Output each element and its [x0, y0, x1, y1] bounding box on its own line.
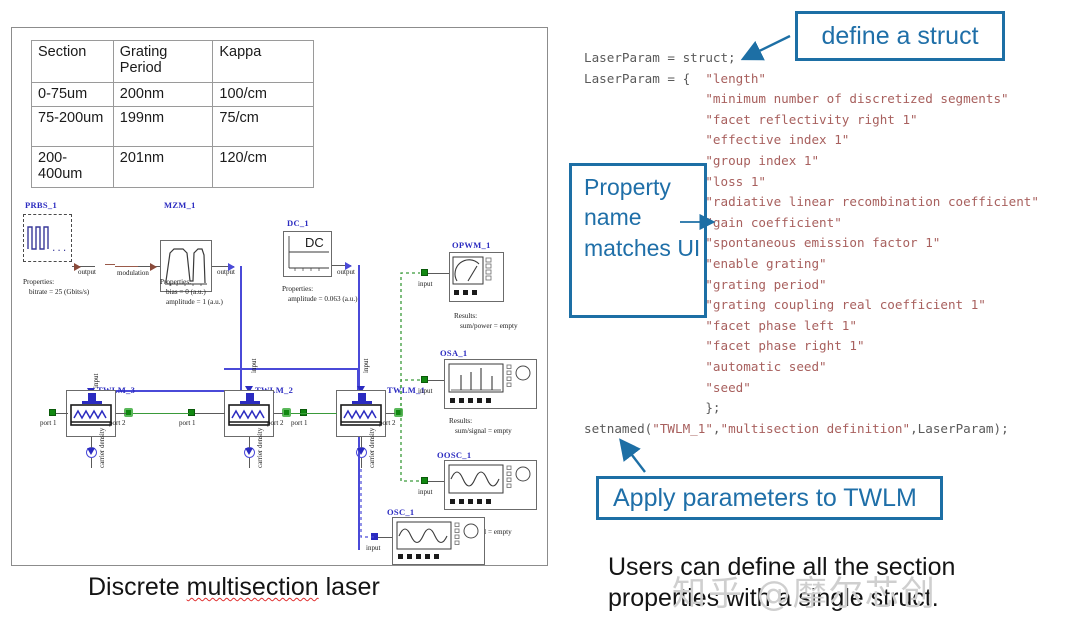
block-label-oosc-1: OOSC_1	[437, 450, 471, 460]
wire-port1-twlm3	[56, 413, 68, 414]
oscilloscope-svg	[393, 518, 484, 564]
port-label-modulation: modulation	[117, 269, 149, 277]
code-setnamed-comma: ,	[713, 421, 721, 436]
power-meter-svg	[450, 253, 503, 301]
port-dot-green[interactable]	[421, 376, 428, 383]
wire-dc-to-twlm2	[224, 368, 360, 370]
mzm-properties-amplitude: amplitude = 1 (a.u.)	[166, 297, 223, 307]
code-setnamed-arg1: "TWLM_1"	[652, 421, 713, 436]
block-label-prbs-1: PRBS_1	[25, 200, 57, 210]
code-closing-brace: };	[705, 400, 720, 415]
arrow-icon	[87, 448, 95, 455]
twlm-laser-svg	[225, 391, 273, 436]
twlm-laser-icon[interactable]	[66, 390, 116, 437]
wire-twlm2-to-twlm1	[291, 413, 337, 414]
arrow-icon	[228, 263, 235, 271]
port-label-port2: port 2	[267, 419, 284, 427]
port-label-input: input	[92, 374, 100, 388]
port-label-carrier-density: carrier density	[368, 428, 376, 468]
arrow-icon	[357, 448, 365, 455]
port-label-port2: port 2	[379, 419, 396, 427]
dc-source-icon[interactable]: DC	[283, 231, 332, 277]
osa-results-value: sum/signal = empty	[455, 426, 512, 436]
wire-carrier-twlm2-b	[249, 458, 250, 468]
code-setnamed-arg2: "multisection definition"	[721, 421, 911, 436]
twlm-laser-icon[interactable]	[224, 390, 274, 437]
code-line-struct: LaserParam = struct;	[584, 50, 736, 65]
wire-port2-twlm1	[386, 413, 395, 414]
dc-properties-title: Properties:	[282, 284, 313, 294]
svg-text:DC: DC	[305, 235, 324, 250]
port-dot-green[interactable]	[421, 477, 428, 484]
wire-modulation-b	[115, 266, 138, 267]
code-string-10: "grating period"	[705, 277, 826, 292]
block-label-osc-1: OSC_1	[387, 507, 414, 517]
port-label-input: input	[418, 280, 432, 288]
code-string-12: "facet phase left 1"	[705, 318, 857, 333]
arrow-apply-params-icon	[622, 442, 645, 472]
code-string-5: "loss 1"	[705, 174, 766, 189]
slide-root: Section Grating Period Kappa 0-75um 200n…	[0, 0, 1074, 630]
code-setnamed-pre: setnamed(	[584, 421, 652, 436]
code-string-11: "grating coupling real coefficient 1"	[705, 297, 986, 312]
port-dot-green[interactable]	[421, 269, 428, 276]
callout-define-struct-label: define a struct	[821, 22, 978, 51]
port-dot-blue[interactable]	[371, 533, 378, 540]
twlm-laser-svg	[337, 391, 385, 436]
mzm-properties-title: Properties:	[160, 277, 191, 287]
wire-carrier-twlm1-b	[361, 458, 362, 468]
port-label-input: input	[366, 544, 380, 552]
caption-left-spellcheck-word: multisection	[187, 573, 319, 601]
code-string-2: "facet reflectivity right 1"	[705, 112, 917, 127]
code-string-14: "automatic seed"	[705, 359, 826, 374]
port-label-port1: port 1	[291, 419, 308, 427]
opwm-results-title: Results:	[454, 311, 477, 321]
wire-carrier-twlm3-b	[91, 458, 92, 468]
caption-left-post: laser	[319, 573, 380, 601]
port-label-input: input	[362, 359, 370, 373]
port-label-input: input	[418, 488, 432, 496]
svg-text:...: ...	[51, 244, 67, 254]
wire-to-osc	[378, 537, 393, 538]
twlm-laser-icon[interactable]	[336, 390, 386, 437]
optical-oscilloscope-svg	[445, 461, 536, 509]
arrow-icon	[245, 448, 253, 455]
oscilloscope-icon[interactable]	[392, 517, 485, 565]
dc-source-svg: DC	[284, 232, 331, 276]
prbs-waveform-icon[interactable]: ...	[23, 214, 72, 262]
callout-apply-parameters-label: Apply parameters to TWLM	[613, 484, 917, 513]
port-label-port1: port 1	[40, 419, 57, 427]
arrow-icon	[345, 262, 352, 270]
osa-results-title: Results:	[449, 416, 472, 426]
callout-define-struct[interactable]: define a struct	[795, 11, 1005, 61]
wire-to-opwm	[428, 273, 449, 274]
callout-apply-parameters[interactable]: Apply parameters to TWLM	[596, 476, 943, 520]
block-label-dc-1: DC_1	[287, 218, 309, 228]
port-dot-green-ring[interactable]	[282, 408, 291, 417]
port-label-carrier-density: carrier density	[98, 428, 106, 468]
wire-port2-twlm3	[116, 413, 126, 414]
callout-property-match[interactable]: Property name matches UI	[569, 163, 707, 318]
mzm-properties-bias: bias = 0 (a.u.)	[166, 287, 206, 297]
code-string-13: "facet phase right 1"	[705, 338, 864, 353]
code-setnamed-post: ,LaserParam);	[910, 421, 1009, 436]
port-label-input: input	[418, 387, 432, 395]
circuit-schematic: PRBS_1 ... output Properties: bitrate = …	[12, 28, 549, 567]
wire-modulation-a	[105, 264, 115, 265]
code-string-1: "minimum number of discretized segments"	[705, 91, 1008, 106]
spectrum-analyzer-icon[interactable]	[444, 359, 537, 409]
block-label-mzm-1: MZM_1	[164, 200, 196, 210]
optical-oscilloscope-icon[interactable]	[444, 460, 537, 510]
code-string-6: "radiative linear recombination coeffici…	[705, 194, 1039, 209]
port-label-port1: port 1	[179, 419, 196, 427]
wire-port1-twlm2	[195, 413, 225, 414]
code-string-15: "seed"	[705, 380, 751, 395]
spectrum-analyzer-svg	[445, 360, 536, 408]
code-string-8: "spontaneous emission factor 1"	[705, 235, 940, 250]
code-string-0: "length"	[705, 71, 766, 86]
twlm-laser-svg	[67, 391, 115, 436]
prbs-properties-value: bitrate = 25 (Gbits/s)	[29, 287, 89, 297]
callout-property-match-label: Property name matches UI	[584, 174, 700, 261]
port-dot-green-ring[interactable]	[394, 408, 403, 417]
block-label-opwm-1: OPWM_1	[452, 240, 491, 250]
wire-carrier-twlm2	[249, 437, 250, 448]
wire-carrier-twlm3	[91, 437, 92, 448]
code-string-3: "effective index 1"	[705, 132, 849, 147]
wire-port2-twlm2	[274, 413, 283, 414]
arrow-icon	[150, 263, 157, 271]
port-label-port2: port 2	[109, 419, 126, 427]
code-line-assign: LaserParam = {	[584, 71, 705, 86]
prbs-properties-title: Properties:	[23, 277, 54, 287]
code-string-4: "group index 1"	[705, 153, 819, 168]
caption-left: Discrete multisection laser	[88, 573, 380, 602]
wire-to-osa	[428, 380, 445, 381]
port-label-input: input	[250, 359, 258, 373]
circuit-panel: Section Grating Period Kappa 0-75um 200n…	[11, 27, 548, 566]
watermark: 知乎 @摩尔芯创	[672, 566, 937, 615]
prbs-waveform-svg: ...	[24, 215, 71, 261]
wire-mzm-to-twlm3	[240, 266, 242, 391]
port-label-carrier-density: carrier density	[256, 428, 264, 468]
block-label-osa-1: OSA_1	[440, 348, 467, 358]
power-meter-icon[interactable]	[449, 252, 504, 302]
wire-to-oosc	[428, 481, 445, 482]
code-string-7: "gain coefficient"	[705, 215, 841, 230]
port-dot-green[interactable]	[188, 409, 195, 416]
wire-twlm3-to-twlm2	[133, 413, 189, 414]
caption-left-pre: Discrete	[88, 573, 187, 601]
arrow-icon	[74, 263, 81, 271]
code-string-9: "enable grating"	[705, 256, 826, 271]
wire-carrier-twlm1	[361, 437, 362, 448]
opwm-results-value: sum/power = empty	[460, 321, 518, 331]
port-dot-green[interactable]	[49, 409, 56, 416]
dc-properties-value: amplitude = 0.063 (a.u.)	[288, 294, 358, 304]
